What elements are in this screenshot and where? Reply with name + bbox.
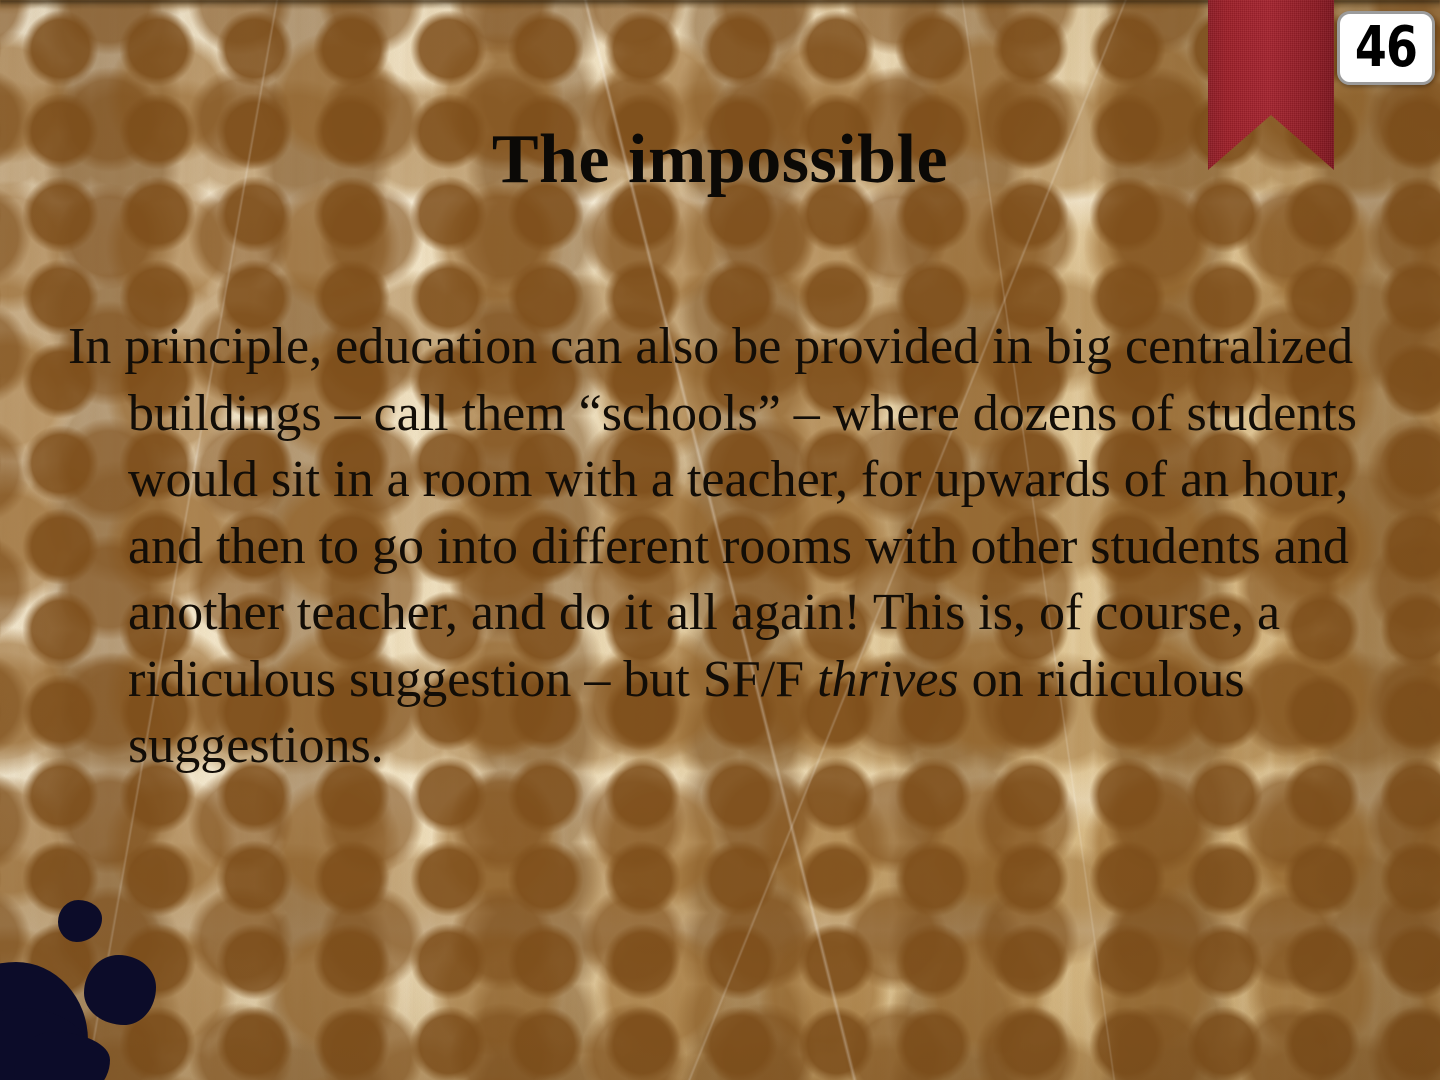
slide-canvas: 46 The impossible In principle, educatio…	[0, 0, 1440, 1080]
page-number-badge: 46	[1337, 11, 1435, 85]
ink-blot-medium	[84, 955, 156, 1025]
body-paragraph: In principle, education can also be prov…	[128, 314, 1398, 780]
ink-blot-tail	[14, 1032, 110, 1080]
ink-blot-large-secondary	[0, 1008, 90, 1080]
ink-blot-large	[0, 962, 88, 1080]
page-number-text: 46	[1355, 20, 1417, 76]
ink-blot-small	[58, 900, 102, 942]
slide-title: The impossible	[0, 125, 1440, 195]
slide-body-text: In principle, education can also be prov…	[68, 262, 1398, 832]
